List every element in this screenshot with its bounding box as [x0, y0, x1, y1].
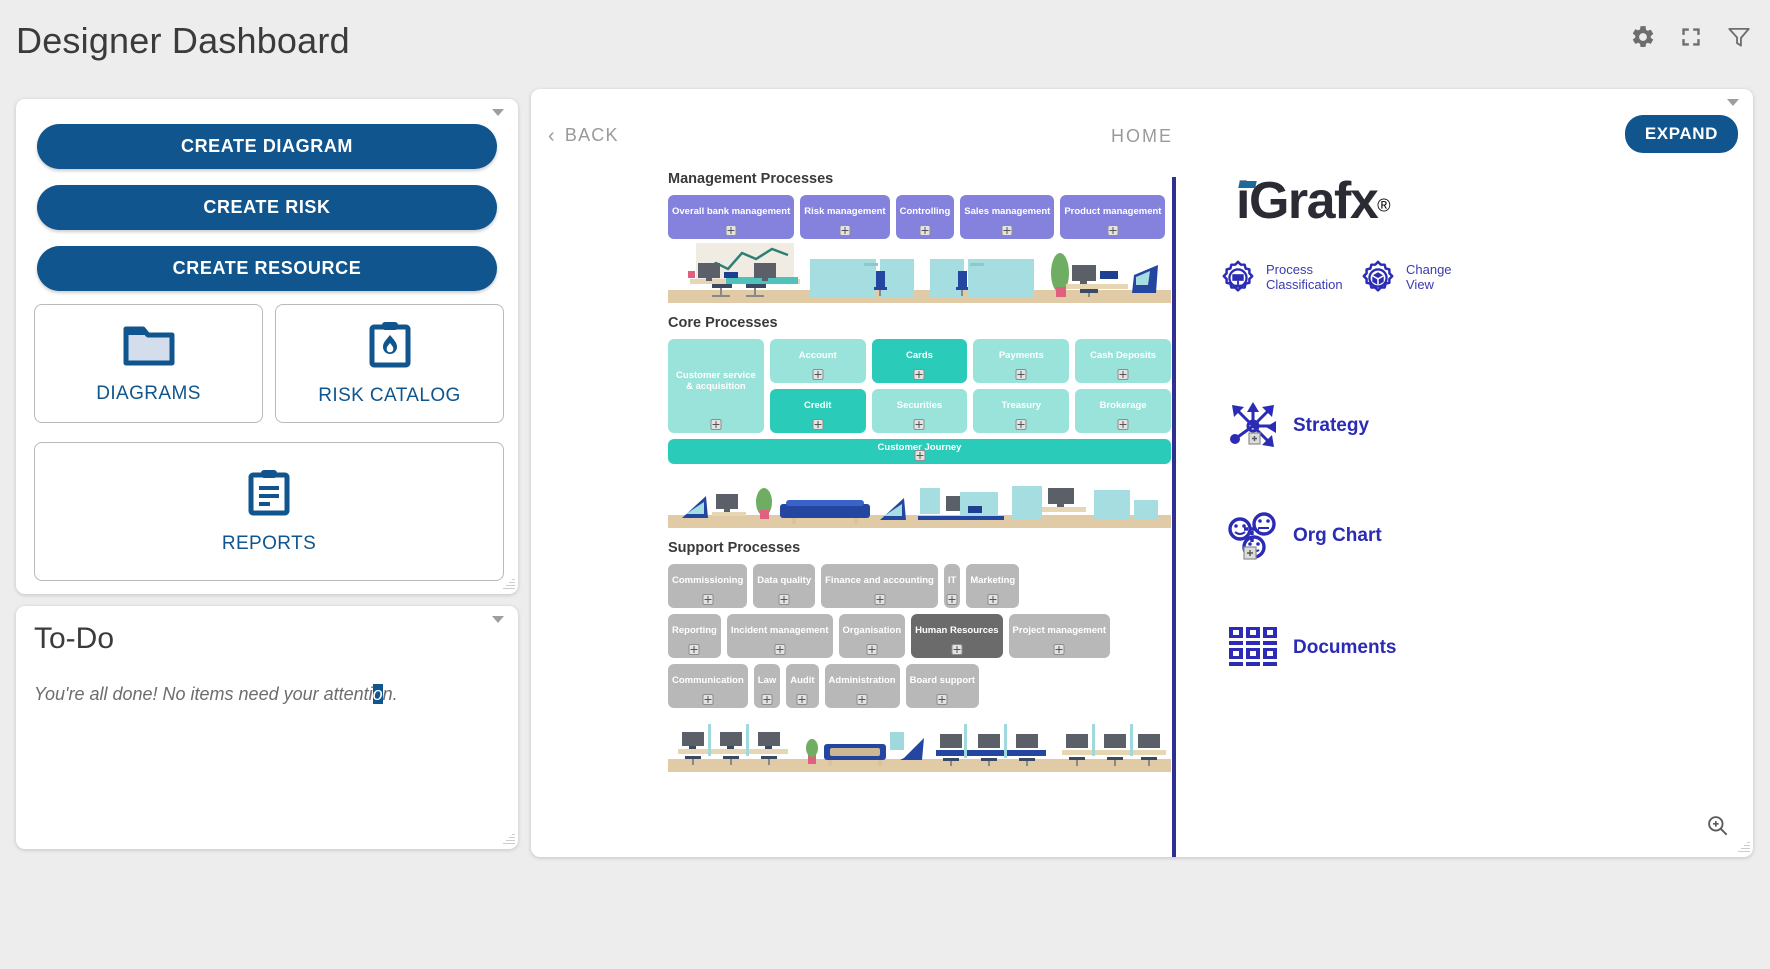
process-box[interactable]: Audit [786, 664, 818, 708]
diagram-panel-resize-grip[interactable] [1736, 840, 1750, 854]
expand-plus-icon[interactable] [726, 225, 737, 236]
todo-empty-message-post: n. [383, 684, 398, 704]
process-box[interactable]: Incident management [727, 614, 833, 658]
process-box[interactable]: Marketing [966, 564, 1019, 608]
sidebar-item-strategy[interactable]: Strategy [1226, 399, 1369, 453]
expand-plus-icon[interactable] [874, 594, 885, 605]
diagram-panel: ‹ BACK HOME EXPAND Management Processes … [531, 89, 1753, 857]
expand-plus-icon[interactable] [951, 644, 962, 655]
process-box-label: Cards [906, 350, 933, 361]
process-box-label: Reporting [672, 625, 717, 636]
create-risk-button[interactable]: CREATE RISK [37, 185, 497, 230]
expand-plus-icon[interactable] [1016, 369, 1027, 380]
sidebar-item-documents[interactable]: Documents [1226, 621, 1396, 675]
process-box-label: Data quality [757, 575, 811, 586]
page-title: Designer Dashboard [16, 20, 350, 62]
process-box[interactable]: Risk management [800, 195, 889, 239]
todo-empty-message: You're all done! No items need your atte… [34, 684, 398, 705]
process-box[interactable]: Product management [1060, 195, 1165, 239]
create-resource-button[interactable]: CREATE RESOURCE [37, 246, 497, 291]
expand-plus-icon[interactable] [919, 225, 930, 236]
process-box-label: Human Resources [915, 625, 998, 636]
actions-panel: CREATE DIAGRAM CREATE RISK CREATE RESOUR… [16, 99, 518, 594]
logo-accent-mark [1238, 181, 1256, 188]
expand-plus-icon[interactable] [762, 694, 773, 705]
process-box[interactable]: Commissioning [668, 564, 747, 608]
expand-plus-icon[interactable] [866, 644, 877, 655]
expand-plus-icon[interactable] [1002, 225, 1013, 236]
section-core: Core Processes Customer service & acquis… [668, 315, 1171, 528]
process-box-label: Treasury [1001, 400, 1041, 411]
process-box[interactable]: Controlling [896, 195, 955, 239]
section-title-core: Core Processes [668, 315, 1171, 331]
actions-panel-resize-grip[interactable] [501, 577, 515, 591]
process-box[interactable]: Administration [825, 664, 900, 708]
expand-button[interactable]: EXPAND [1625, 115, 1738, 153]
process-box-label: Cash Deposits [1090, 350, 1156, 361]
gear-icon[interactable] [1630, 24, 1656, 50]
igrafx-logo: iGrafx® [1236, 171, 1391, 231]
section-support: Support Processes Commissioning Data qua… [668, 540, 1171, 772]
support-row-3: Communication Law Audit Administration B… [668, 664, 1171, 708]
section-management: Management Processes Overall bank manage… [668, 171, 1171, 303]
support-row-1: Commissioning Data quality Finance and a… [668, 564, 1171, 608]
change-view-label: Change View [1406, 263, 1452, 293]
process-box-label: IT [948, 575, 956, 586]
reports-tile[interactable]: REPORTS [34, 442, 504, 581]
process-box[interactable]: Communication [668, 664, 748, 708]
office-illustration-support [668, 710, 1171, 772]
process-box-label: Credit [804, 400, 831, 411]
diagrams-tile-label: DIAGRAMS [96, 383, 201, 405]
canvas-divider [1172, 177, 1176, 857]
strategy-network-icon [1226, 399, 1280, 453]
expand-plus-icon[interactable] [702, 694, 713, 705]
process-box-label: Customer service & acquisition [672, 370, 760, 393]
risk-catalog-tile[interactable]: RISK CATALOG [275, 304, 504, 423]
risk-catalog-tile-label: RISK CATALOG [318, 385, 460, 407]
todo-empty-message-pre: You're all done! No items need your atte… [34, 684, 373, 704]
create-diagram-button[interactable]: CREATE DIAGRAM [37, 124, 497, 169]
expand-plus-icon[interactable] [710, 419, 721, 430]
expand-plus-icon[interactable] [779, 594, 790, 605]
process-box[interactable]: Cards [872, 339, 968, 383]
process-box[interactable]: Overall bank management [668, 195, 794, 239]
panel-collapse-caret-todo[interactable] [492, 616, 504, 623]
documents-grid-icon [1226, 621, 1280, 675]
process-sections: Management Processes Overall bank manage… [668, 171, 1171, 772]
section-title-support: Support Processes [668, 540, 1171, 556]
expand-plus-icon[interactable] [812, 419, 823, 430]
expand-plus-icon[interactable] [774, 644, 785, 655]
process-box-label: Administration [829, 675, 896, 686]
process-box[interactable]: Board support [906, 664, 979, 708]
expand-plus-icon[interactable] [914, 450, 925, 461]
panel-collapse-caret-diagram[interactable] [1727, 99, 1739, 106]
process-box[interactable]: Data quality [753, 564, 815, 608]
clipboard-lines-icon [247, 469, 291, 517]
process-box-label: Law [758, 675, 776, 686]
logo-text: iGrafx [1236, 172, 1377, 230]
process-box-label: Commissioning [672, 575, 743, 586]
process-box[interactable]: Treasury [973, 389, 1069, 433]
process-box-label: Securities [897, 400, 942, 411]
todo-panel: To-Do You're all done! No items need you… [16, 606, 518, 849]
sidebar-item-org-chart[interactable]: Org Chart [1226, 509, 1382, 563]
org-chart-people-icon [1226, 509, 1280, 563]
process-box[interactable]: Law [754, 664, 780, 708]
sidebar-item-documents-label: Documents [1293, 637, 1396, 659]
top-bar-icon-group [1630, 24, 1752, 50]
process-box[interactable]: Payments [973, 339, 1069, 383]
sidebar-item-strategy-label: Strategy [1293, 415, 1369, 437]
expand-plus-icon[interactable] [702, 594, 713, 605]
expand-plus-icon[interactable] [1054, 644, 1065, 655]
top-bar: Designer Dashboard [0, 0, 1770, 88]
expand-plus-icon[interactable] [797, 694, 808, 705]
logo-registered-mark: ® [1377, 196, 1390, 216]
zoom-in-icon[interactable] [1705, 813, 1731, 839]
process-box-label: Marketing [970, 575, 1015, 586]
process-box[interactable]: Organisation [839, 614, 906, 658]
process-box[interactable]: Project management [1009, 614, 1110, 658]
process-box[interactable]: Finance and accounting [821, 564, 938, 608]
folder-icon [123, 323, 175, 367]
process-box-label: Product management [1064, 206, 1161, 217]
sidebar-item-org-chart-label: Org Chart [1293, 525, 1382, 547]
fullscreen-icon[interactable] [1678, 24, 1704, 50]
todo-panel-title: To-Do [34, 622, 114, 656]
process-box[interactable]: Securities [872, 389, 968, 433]
expand-plus-icon[interactable] [947, 594, 958, 605]
process-classification-label: Process Classification [1266, 263, 1343, 293]
diagrams-tile[interactable]: DIAGRAMS [34, 304, 263, 423]
expand-plus-icon[interactable] [857, 694, 868, 705]
process-box[interactable]: Credit [770, 389, 866, 433]
process-box-label: Controlling [900, 206, 951, 217]
process-box-label: Brokerage [1100, 400, 1147, 411]
gear-cube-icon [1359, 259, 1397, 297]
management-row: Overall bank management Risk management … [668, 195, 1171, 239]
customer-journey-banner[interactable]: Customer Journey [668, 439, 1171, 464]
process-box-label: Finance and accounting [825, 575, 934, 586]
process-box[interactable]: Human Resources [911, 614, 1002, 658]
process-box-label: Organisation [843, 625, 902, 636]
expand-plus-icon[interactable] [1107, 225, 1118, 236]
expand-plus-icon[interactable] [987, 594, 998, 605]
process-box-label: Sales management [964, 206, 1050, 217]
office-illustration-management [668, 241, 1171, 303]
expand-plus-icon[interactable] [914, 369, 925, 380]
expand-plus-icon[interactable] [689, 644, 700, 655]
expand-plus-icon[interactable] [1118, 369, 1129, 380]
gear-monitor-icon [1219, 259, 1257, 297]
process-box-label: Project management [1013, 625, 1106, 636]
process-box-label: Account [799, 350, 837, 361]
expand-plus-icon[interactable] [1118, 419, 1129, 430]
process-box[interactable]: IT [944, 564, 960, 608]
office-illustration-core [668, 466, 1171, 528]
filter-icon[interactable] [1726, 24, 1752, 50]
process-box-label: Audit [790, 675, 814, 686]
process-box[interactable]: Cash Deposits [1075, 339, 1171, 383]
process-box[interactable]: Customer service & acquisition [668, 339, 764, 433]
process-map-canvas[interactable]: Management Processes Overall bank manage… [531, 159, 1753, 857]
expand-plus-icon[interactable] [812, 369, 823, 380]
todo-empty-message-selection: o [373, 684, 383, 704]
process-box-label: Board support [910, 675, 975, 686]
process-classification-link[interactable]: Process Classification [1219, 259, 1343, 297]
expand-plus-icon[interactable] [839, 225, 850, 236]
process-box[interactable]: Account [770, 339, 866, 383]
process-box-label: Incident management [731, 625, 829, 636]
reports-tile-label: REPORTS [222, 533, 316, 555]
change-view-link[interactable]: Change View [1359, 259, 1452, 297]
section-title-management: Management Processes [668, 171, 1171, 187]
process-box[interactable]: Reporting [668, 614, 721, 658]
process-box-label: Payments [999, 350, 1044, 361]
expand-plus-icon[interactable] [914, 419, 925, 430]
breadcrumb-home: HOME [531, 126, 1753, 147]
process-box[interactable]: Brokerage [1075, 389, 1171, 433]
clipboard-flame-icon [368, 321, 412, 369]
expand-plus-icon[interactable] [1016, 419, 1027, 430]
process-box[interactable]: Sales management [960, 195, 1054, 239]
process-box-label: Risk management [804, 206, 885, 217]
process-box-label: Overall bank management [672, 206, 790, 217]
support-row-2: Reporting Incident management Organisati… [668, 614, 1171, 658]
process-box-label: Communication [672, 675, 744, 686]
panel-collapse-caret-actions[interactable] [492, 109, 504, 116]
core-rows: Customer service & acquisition Account C… [668, 339, 1171, 433]
todo-panel-resize-grip[interactable] [501, 832, 515, 846]
expand-plus-icon[interactable] [937, 694, 948, 705]
